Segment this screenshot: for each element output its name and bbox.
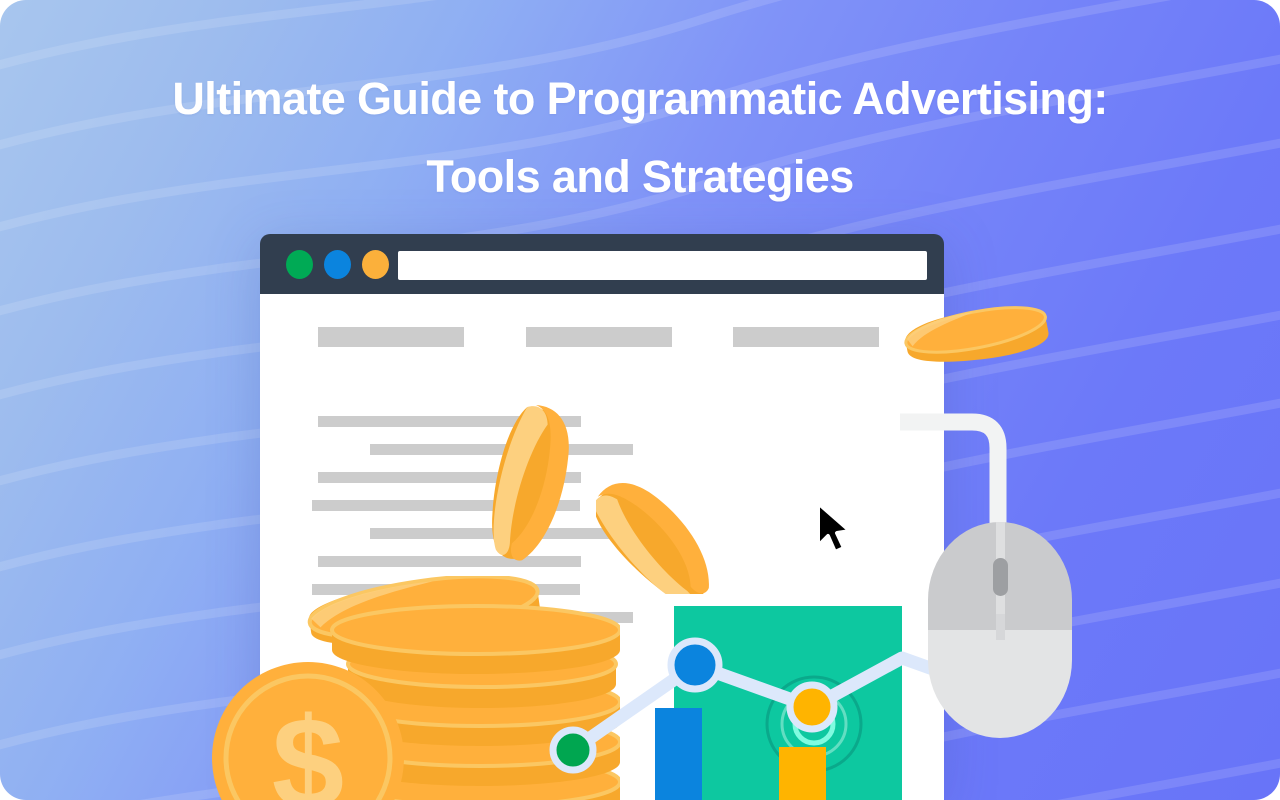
chart-node-blue <box>671 641 719 689</box>
blue-dot-icon[interactable] <box>324 250 351 279</box>
chart-bar-blue <box>655 708 702 800</box>
green-dot-icon[interactable] <box>286 250 313 279</box>
mouse-scroll-wheel <box>993 558 1008 596</box>
chart-node-orange <box>790 685 834 729</box>
computer-mouse-icon <box>900 400 1160 800</box>
falling-coin-icon-2 <box>596 462 738 594</box>
title-line-1: Ultimate Guide to Programmatic Advertisi… <box>172 73 1107 124</box>
nav-placeholder-2[interactable] <box>526 327 672 347</box>
browser-chrome <box>260 234 944 294</box>
nav-placeholder-3[interactable] <box>733 327 879 347</box>
floating-coin-icon <box>898 306 1054 368</box>
nav-placeholder-1[interactable] <box>318 327 464 347</box>
chart-node-green <box>553 730 593 770</box>
page-title: Ultimate Guide to Programmatic Advertisi… <box>0 60 1280 216</box>
mouse-bottom-shell <box>928 630 1072 738</box>
chart-bar-orange <box>779 747 826 800</box>
falling-coin-icon-1 <box>486 398 590 578</box>
orange-dot-icon[interactable] <box>362 250 389 279</box>
mouse-button-split <box>996 614 1005 640</box>
dollar-symbol: $ <box>272 690 344 800</box>
hero-banner: Ultimate Guide to Programmatic Advertisi… <box>0 0 1280 800</box>
address-bar[interactable] <box>398 251 927 280</box>
cursor-pointer-icon <box>812 500 856 556</box>
title-line-2: Tools and Strategies <box>0 138 1280 216</box>
